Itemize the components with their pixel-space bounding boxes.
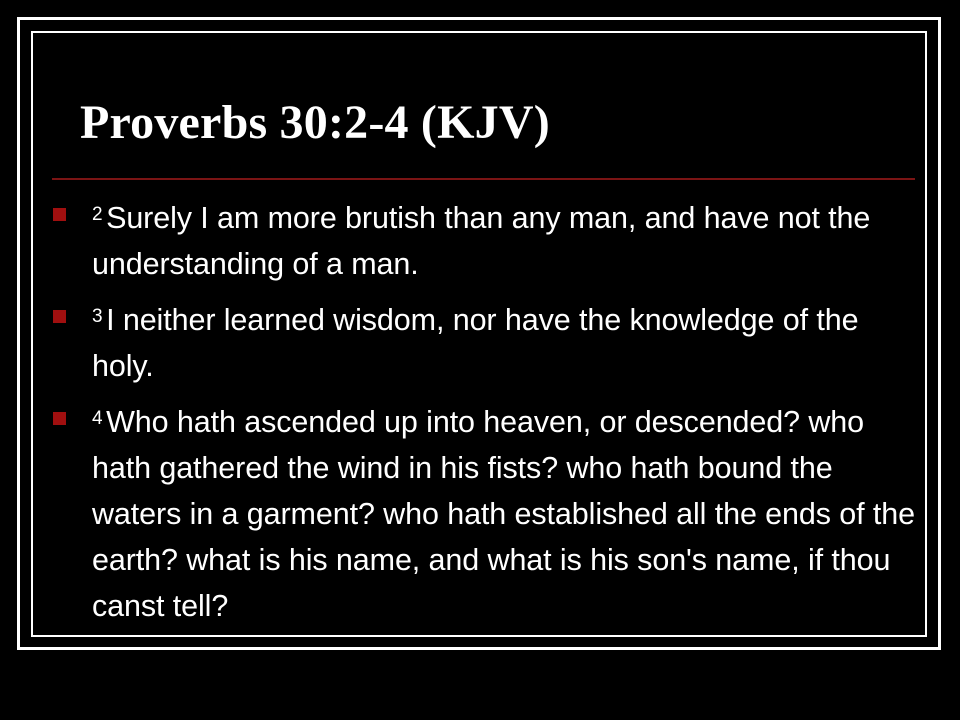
presentation-slide: Proverbs 30:2-4 (KJV) 2Surely I am more … xyxy=(0,0,960,720)
list-item: 2Surely I am more brutish than any man, … xyxy=(52,192,928,287)
bullet-square-icon xyxy=(53,412,66,425)
bullet-square-icon xyxy=(53,208,66,221)
verse-text: I neither learned wisdom, nor have the k… xyxy=(92,303,858,383)
list-item: 4Who hath ascended up into heaven, or de… xyxy=(52,396,928,629)
verse-number: 4 xyxy=(92,408,106,429)
verse-number: 3 xyxy=(92,306,106,327)
verse-text: Surely I am more brutish than any man, a… xyxy=(92,201,870,281)
verse-text: Who hath ascended up into heaven, or des… xyxy=(92,405,915,623)
bullet-square-icon xyxy=(53,310,66,323)
verse-number: 2 xyxy=(92,204,106,225)
title-divider-rule xyxy=(52,178,915,180)
slide-title: Proverbs 30:2-4 (KJV) xyxy=(80,96,920,150)
scripture-bullet-list: 2Surely I am more brutish than any man, … xyxy=(52,192,928,636)
list-item: 3I neither learned wisdom, nor have the … xyxy=(52,294,928,389)
